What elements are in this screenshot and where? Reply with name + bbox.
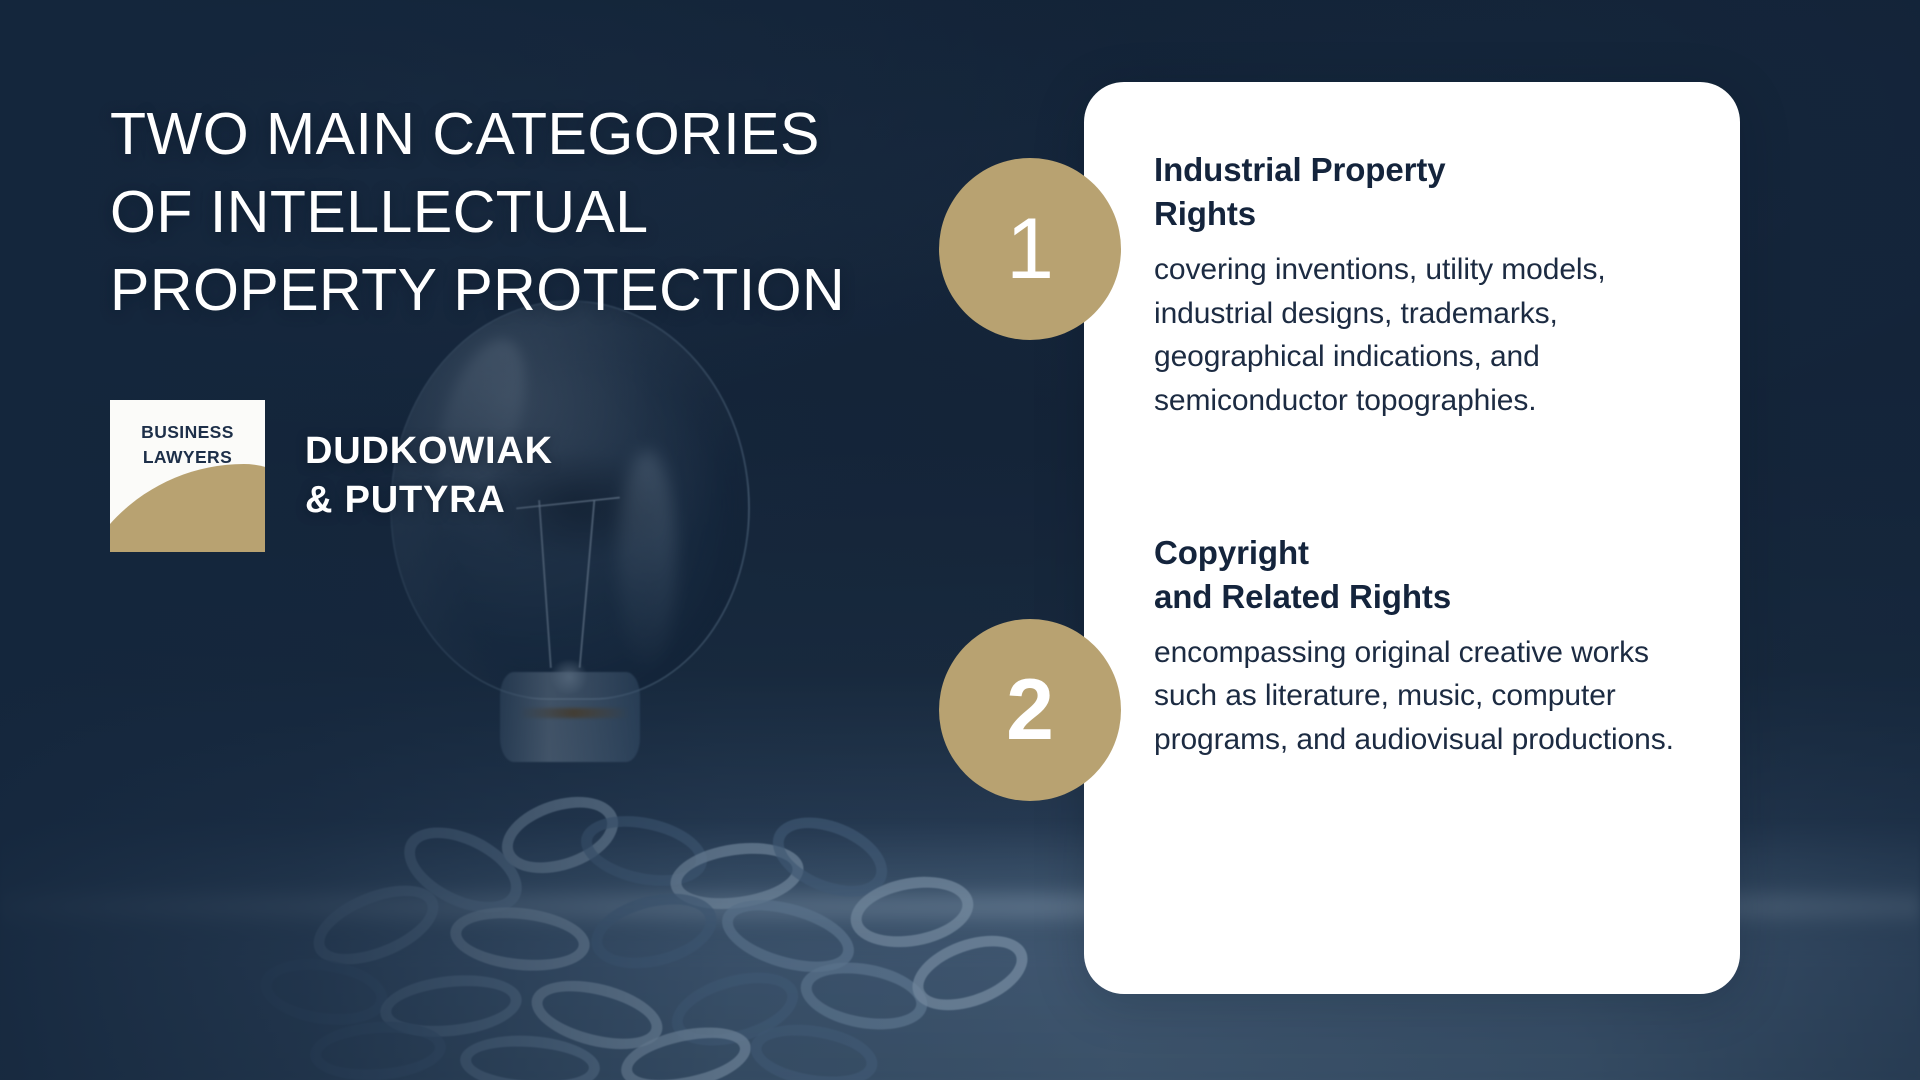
- category-2-title-line-2: and Related Rights: [1154, 575, 1696, 619]
- logo-text-line-1: BUSINESS: [110, 420, 265, 445]
- category-2-title-line-1: Copyright: [1154, 531, 1696, 575]
- firm-name-line-1: DUDKOWIAK: [305, 427, 553, 476]
- badge-number-1: 1: [1006, 206, 1054, 292]
- logo-text: BUSINESS LAWYERS: [110, 420, 265, 470]
- category-item-1: 1 Industrial Property Rights covering in…: [1154, 148, 1696, 423]
- category-1-title: Industrial Property Rights: [1154, 148, 1696, 236]
- content-card: 1 Industrial Property Rights covering in…: [1084, 82, 1740, 994]
- headline-block: TWO MAIN CATEGORIES OF INTELLECTUAL PROP…: [110, 96, 940, 330]
- card-content: 1 Industrial Property Rights covering in…: [1154, 148, 1696, 928]
- category-item-2: 2 Copyright and Related Rights encompass…: [1154, 531, 1696, 762]
- number-badge-1: 1: [939, 158, 1121, 340]
- firm-name: DUDKOWIAK & PUTYRA: [305, 427, 553, 524]
- logo-gold-swoosh-icon: [110, 464, 265, 552]
- business-lawyers-logo: BUSINESS LAWYERS: [110, 400, 265, 552]
- category-2-body: encompassing original creative works suc…: [1154, 631, 1696, 762]
- badge-number-2: 2: [1006, 667, 1054, 753]
- slide-root: TWO MAIN CATEGORIES OF INTELLECTUAL PROP…: [0, 0, 1920, 1080]
- title-line-3: PROPERTY PROTECTION: [110, 252, 940, 330]
- number-badge-2: 2: [939, 619, 1121, 801]
- category-1-body: covering inventions, utility models, ind…: [1154, 248, 1696, 423]
- brand-lockup: BUSINESS LAWYERS DUDKOWIAK & PUTYRA: [110, 400, 553, 552]
- page-title: TWO MAIN CATEGORIES OF INTELLECTUAL PROP…: [110, 96, 940, 330]
- category-1-title-line-1: Industrial Property: [1154, 148, 1696, 192]
- title-line-2: OF INTELLECTUAL: [110, 174, 940, 252]
- title-line-1: TWO MAIN CATEGORIES: [110, 96, 940, 174]
- category-1-title-line-2: Rights: [1154, 192, 1696, 236]
- firm-name-line-2: & PUTYRA: [305, 476, 553, 525]
- category-2-title: Copyright and Related Rights: [1154, 531, 1696, 619]
